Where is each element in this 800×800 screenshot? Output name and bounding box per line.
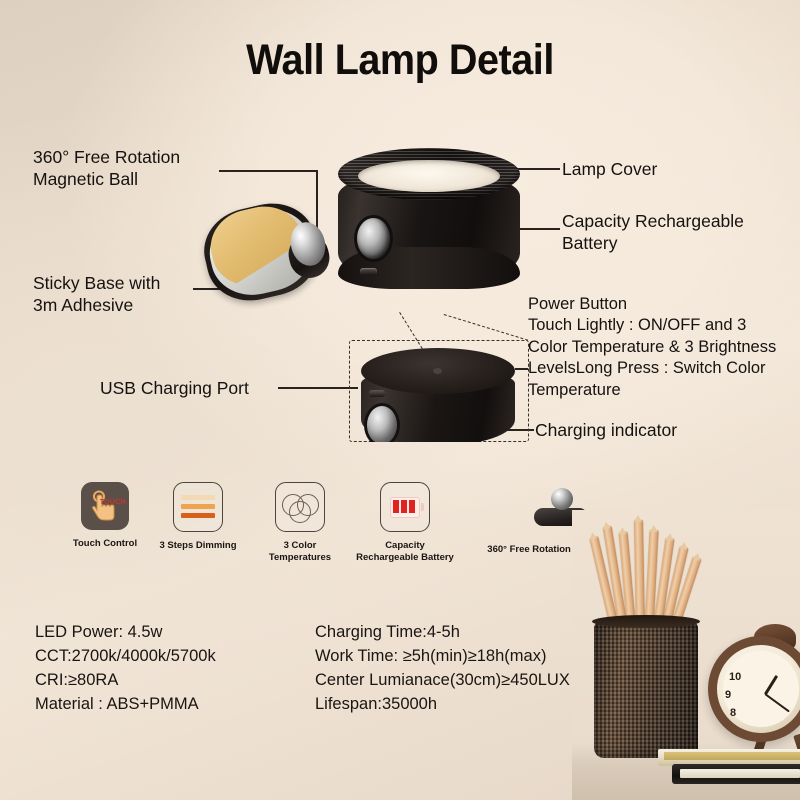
color-ring-3 bbox=[289, 501, 311, 523]
callout-usb-port: USB Charging Port bbox=[100, 377, 249, 399]
lamp-lower-power-button bbox=[367, 406, 397, 442]
callout-battery: Capacity Rechargeable Battery bbox=[562, 210, 744, 254]
clock-number-10: 10 bbox=[729, 671, 741, 683]
callout-lamp-cover: Lamp Cover bbox=[562, 158, 657, 180]
battery-icon bbox=[380, 482, 430, 532]
magnetic-ball-sphere bbox=[551, 488, 573, 510]
clock-number-9: 9 bbox=[725, 689, 731, 701]
feature-touch-control: TOUCH Touch Control bbox=[60, 482, 150, 550]
battery-shell bbox=[390, 497, 420, 518]
dimming-bar-low bbox=[181, 495, 215, 500]
callout-power-button: Power Button Touch Lightly : ON/OFF and … bbox=[528, 294, 776, 401]
book-stack bbox=[658, 750, 800, 784]
infographic-page: Wall Lamp Detail 360° Free Rotation Magn… bbox=[0, 0, 800, 800]
touch-badge-label: TOUCH bbox=[100, 499, 126, 506]
feature-label-steps-dimming: 3 Steps Dimming bbox=[150, 540, 246, 552]
touch-hand-icon: TOUCH bbox=[81, 482, 129, 530]
battery-cell-3 bbox=[409, 500, 415, 513]
lamp-lower-image bbox=[355, 346, 521, 442]
lamp-main-image bbox=[338, 148, 520, 308]
feature-label-capacity-battery: Capacity Rechargeable Battery bbox=[346, 540, 464, 564]
leader-line-usb-port bbox=[278, 387, 358, 389]
zoom-connector-right bbox=[444, 314, 528, 341]
callout-magnetic-ball: 360° Free Rotation Magnetic Ball bbox=[33, 146, 180, 190]
feature-icon-row: TOUCH Touch Control 3 Steps Dimming 3 Co… bbox=[54, 482, 654, 577]
desk-scene-photo: 10 9 8 bbox=[572, 510, 800, 800]
charging-indicator-dot bbox=[433, 368, 442, 374]
dimming-bar-mid bbox=[181, 504, 215, 509]
spec-block-right: Charging Time:4-5h Work Time: ≥5h(min)≥1… bbox=[315, 621, 570, 717]
callout-charging-indicator: Charging indicator bbox=[535, 419, 677, 441]
feature-steps-dimming: 3 Steps Dimming bbox=[150, 482, 246, 552]
pencil-cup bbox=[594, 622, 698, 758]
clock-minute-hand bbox=[764, 693, 789, 712]
dimming-bars-icon bbox=[173, 482, 223, 532]
leader-line-magnetic-ball-h bbox=[219, 170, 317, 172]
feature-label-color-temperatures: 3 Color Temperatures bbox=[252, 540, 348, 564]
pencil-cup-rim bbox=[592, 615, 700, 628]
battery-cell-2 bbox=[401, 500, 407, 513]
clock-number-8: 8 bbox=[730, 707, 736, 719]
battery-cell-1 bbox=[393, 500, 399, 513]
feature-label-touch-control: Touch Control bbox=[60, 538, 150, 550]
page-title: Wall Lamp Detail bbox=[32, 36, 768, 85]
lamp-lower-usb-port bbox=[369, 390, 385, 397]
feature-color-temperatures: 3 Color Temperatures bbox=[252, 482, 348, 564]
book-bottom bbox=[672, 764, 800, 784]
clock-hour-hand bbox=[764, 675, 778, 695]
color-rings-icon bbox=[275, 482, 325, 532]
spec-block-left: LED Power: 4.5w CCT:2700k/4000k/5700k CR… bbox=[35, 621, 216, 717]
lamp-diffuser bbox=[358, 160, 500, 192]
clock-face: 10 9 8 bbox=[723, 651, 799, 727]
callout-sticky-base: Sticky Base with 3m Adhesive bbox=[33, 272, 160, 316]
lamp-usb-port bbox=[360, 268, 377, 275]
touch-hand-glyph bbox=[90, 490, 120, 522]
magnetic-ball-mount-image bbox=[205, 200, 345, 308]
dimming-bar-high bbox=[181, 513, 215, 518]
feature-capacity-battery: Capacity Rechargeable Battery bbox=[346, 482, 464, 564]
lamp-power-button bbox=[357, 218, 390, 259]
